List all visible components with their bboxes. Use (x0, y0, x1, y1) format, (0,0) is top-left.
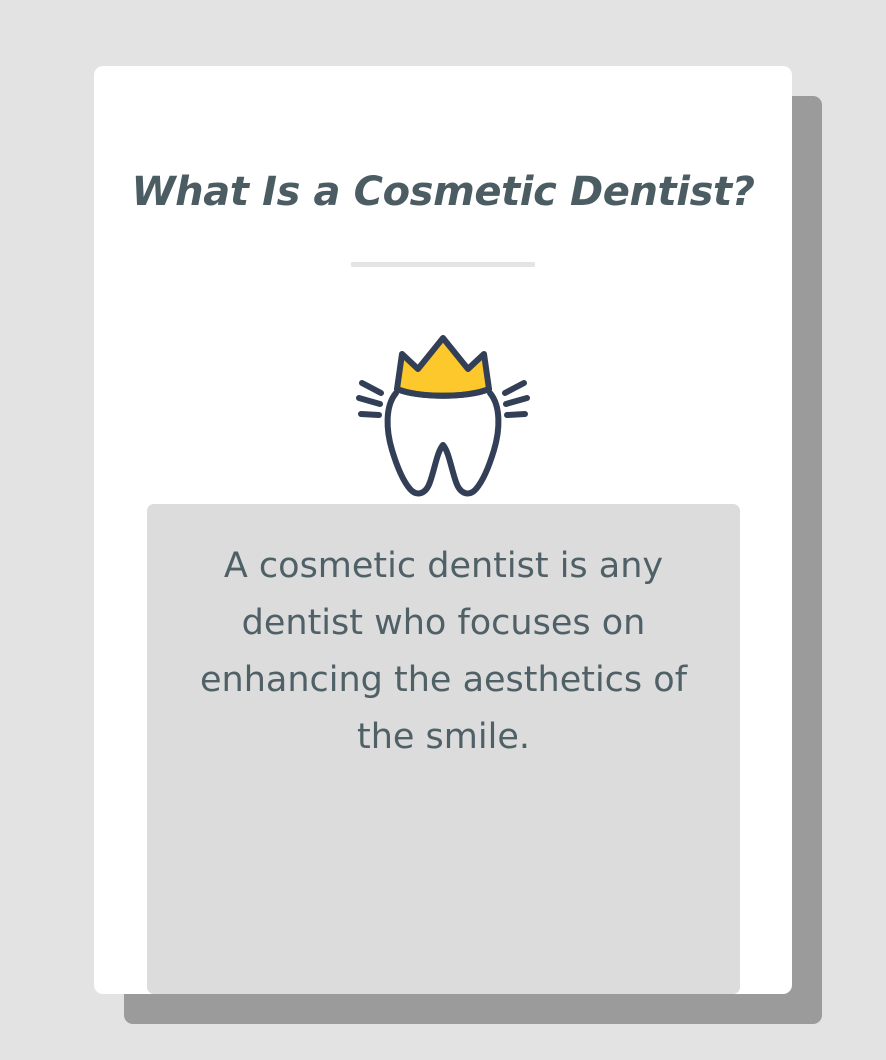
slide-canvas: What Is a Cosmetic Dentist? (0, 0, 886, 1060)
description-panel: A cosmetic dentist is any dentist who fo… (147, 504, 740, 994)
content-card: What Is a Cosmetic Dentist? (94, 66, 792, 994)
crowned-tooth-icon (94, 326, 792, 506)
title-divider (351, 262, 535, 267)
page-title: What Is a Cosmetic Dentist? (94, 170, 792, 215)
description-text: A cosmetic dentist is any dentist who fo… (173, 538, 714, 766)
